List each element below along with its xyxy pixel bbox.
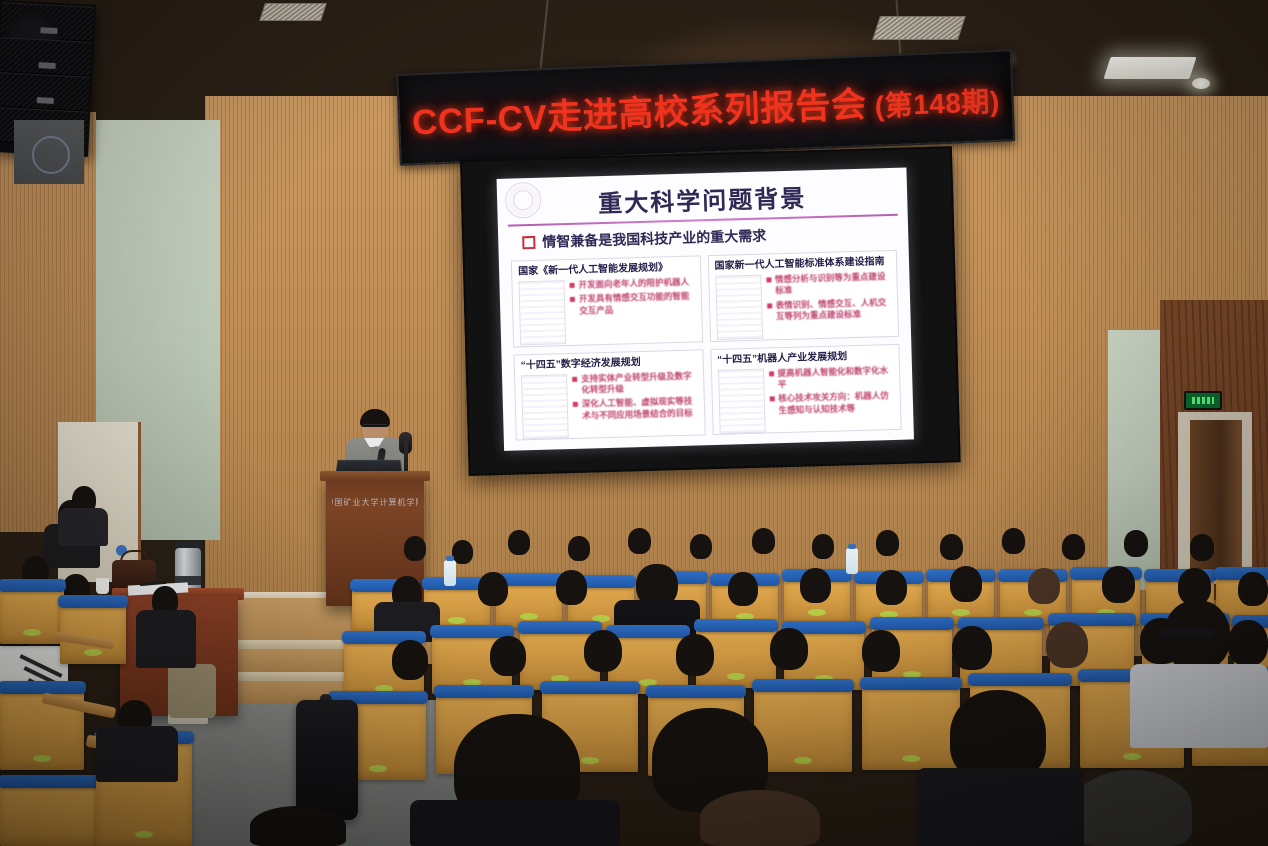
audience-head [1062,534,1085,560]
audience-head [800,568,831,603]
document-thumbnail [521,374,569,439]
audience-head [392,640,428,680]
black-backpack [296,700,358,820]
audience-head [568,536,590,561]
audience-head [584,630,622,672]
audience-shoulders [136,610,196,668]
auditorium-seat[interactable] [0,784,104,846]
audience-head [1228,620,1268,666]
audience-head [1046,622,1088,668]
audience-head [950,566,982,602]
slide-cell: 国家新一代人工智能标准体系建设指南 情感分析与识别等为重点建设标准 表情识别、情… [707,250,899,342]
audience-head [952,626,992,670]
glasses-icon [1160,628,1214,638]
audience-shoulders [1130,664,1268,748]
audience-head [876,530,899,556]
audience-head [478,572,508,606]
slide-bullet: 核心技术攻关方向：机器人仿生感知与认知技术等 [769,390,894,416]
auditorium-seat[interactable] [0,588,64,644]
audience-head [1190,534,1214,561]
bottle-cap [848,544,856,549]
audience-head [676,634,714,676]
audience-head [728,572,758,606]
air-vent-icon [259,3,327,21]
slide-bullet: 提高机器人智能化和数字化水平 [768,364,893,390]
audience-head [940,534,963,560]
audience-head [876,570,907,605]
ceiling-panel-light [1103,57,1196,79]
square-bullet-icon [522,235,535,248]
audience-head [770,628,808,670]
audience-head [862,630,900,672]
air-vent-icon [872,16,966,40]
slide-cell-heading: “十四五”数字经济发展规划 [521,355,697,371]
audience-shoulders [410,800,620,846]
slide-cell: “十四五”机器人产业发展规划 提高机器人智能化和数字化水平 核心技术攻关方向：机… [710,343,902,435]
exit-sign [1184,391,1222,410]
slide-subtitle: 情智兼备是我国科技产业的重大需求 [522,225,766,252]
slide-bullet: 开发具有情感交互功能的智能交互产品 [570,291,695,317]
document-thumbnail [518,280,566,345]
audience-head [250,806,346,846]
slide-cell-heading: 国家新一代人工智能标准体系建设指南 [714,256,890,272]
slide-bullet: 支持实体产业转型升级及数字化转型升级 [572,370,697,396]
audience-head [1124,530,1148,557]
podium-nameplate: 中国矿业大学计算机学院 [332,494,418,510]
audience-head [490,636,526,676]
audience-head [1238,572,1268,606]
presentation-slide: 重大科学问题背景 情智兼备是我国科技产业的重大需求 国家《新一代人工智能发展规划… [497,168,914,451]
slide-bullet: 开发面向老年人的陪护机器人 [569,277,694,292]
projection-screen: 重大科学问题背景 情智兼备是我国科技产业的重大需求 国家《新一代人工智能发展规划… [460,146,961,476]
podium-top-surface [320,471,430,481]
slide-bullet: 表情识别、情感交互、人机交互等列为重点建设标准 [767,297,892,323]
document-thumbnail [717,368,765,433]
water-bottle [444,560,456,586]
audience-head [690,534,712,559]
auditorium-seat[interactable] [754,688,852,772]
slide-bullet: 深化人工智能、虚拟现实等技术与不同应用场景结合的目标 [573,396,698,422]
audience-head [556,570,587,605]
audience-shoulders [58,508,108,546]
audience-head [404,536,426,561]
lecture-hall-photo: CCF-CV走进高校系列报告会 (第148期) 重大科学问题背景 情智兼备是我国… [0,0,1268,846]
audience-head [812,534,834,559]
audience-head [508,530,530,555]
paper-cup [96,578,109,594]
document-thumbnail [715,275,763,340]
slide-bullet: 情感分析与识别等为重点建设标准 [766,271,891,297]
auditorium-seat[interactable] [862,686,960,770]
glasses-icon [363,424,387,430]
audience-head [1002,528,1025,554]
ceiling-downlight [1192,78,1210,89]
bottle-cap [446,556,454,561]
slide-content-grid: 国家《新一代人工智能发展规划》 开发面向老年人的陪护机器人 开发具有情感交互功能… [511,250,902,441]
exit-sign-icon [1192,397,1214,404]
audience-head [628,528,651,554]
audience-head [700,790,820,846]
university-emblem-icon [32,136,70,174]
slide-cell: “十四五”数字经济发展规划 支持实体产业转型升级及数字化转型升级 深化人工智能、… [513,349,705,441]
water-bottle [846,548,858,574]
audience-legs [168,664,216,718]
slide-cell-heading: “十四五”机器人产业发展规划 [717,349,893,365]
slide-cell-heading: 国家《新一代人工智能发展规划》 [518,262,694,278]
audience-head [752,528,775,554]
audience-head [1102,566,1135,603]
audience-shoulders [916,768,1084,846]
audience-shoulders [96,726,178,782]
audience-head [1028,568,1060,604]
audience-head [1072,770,1192,846]
banner-title-text: CCF-CV走进高校系列报告会 (第148期) [411,70,1000,145]
slide-cell: 国家《新一代人工智能发展规划》 开发面向老年人的陪护机器人 开发具有情感交互功能… [511,255,703,347]
